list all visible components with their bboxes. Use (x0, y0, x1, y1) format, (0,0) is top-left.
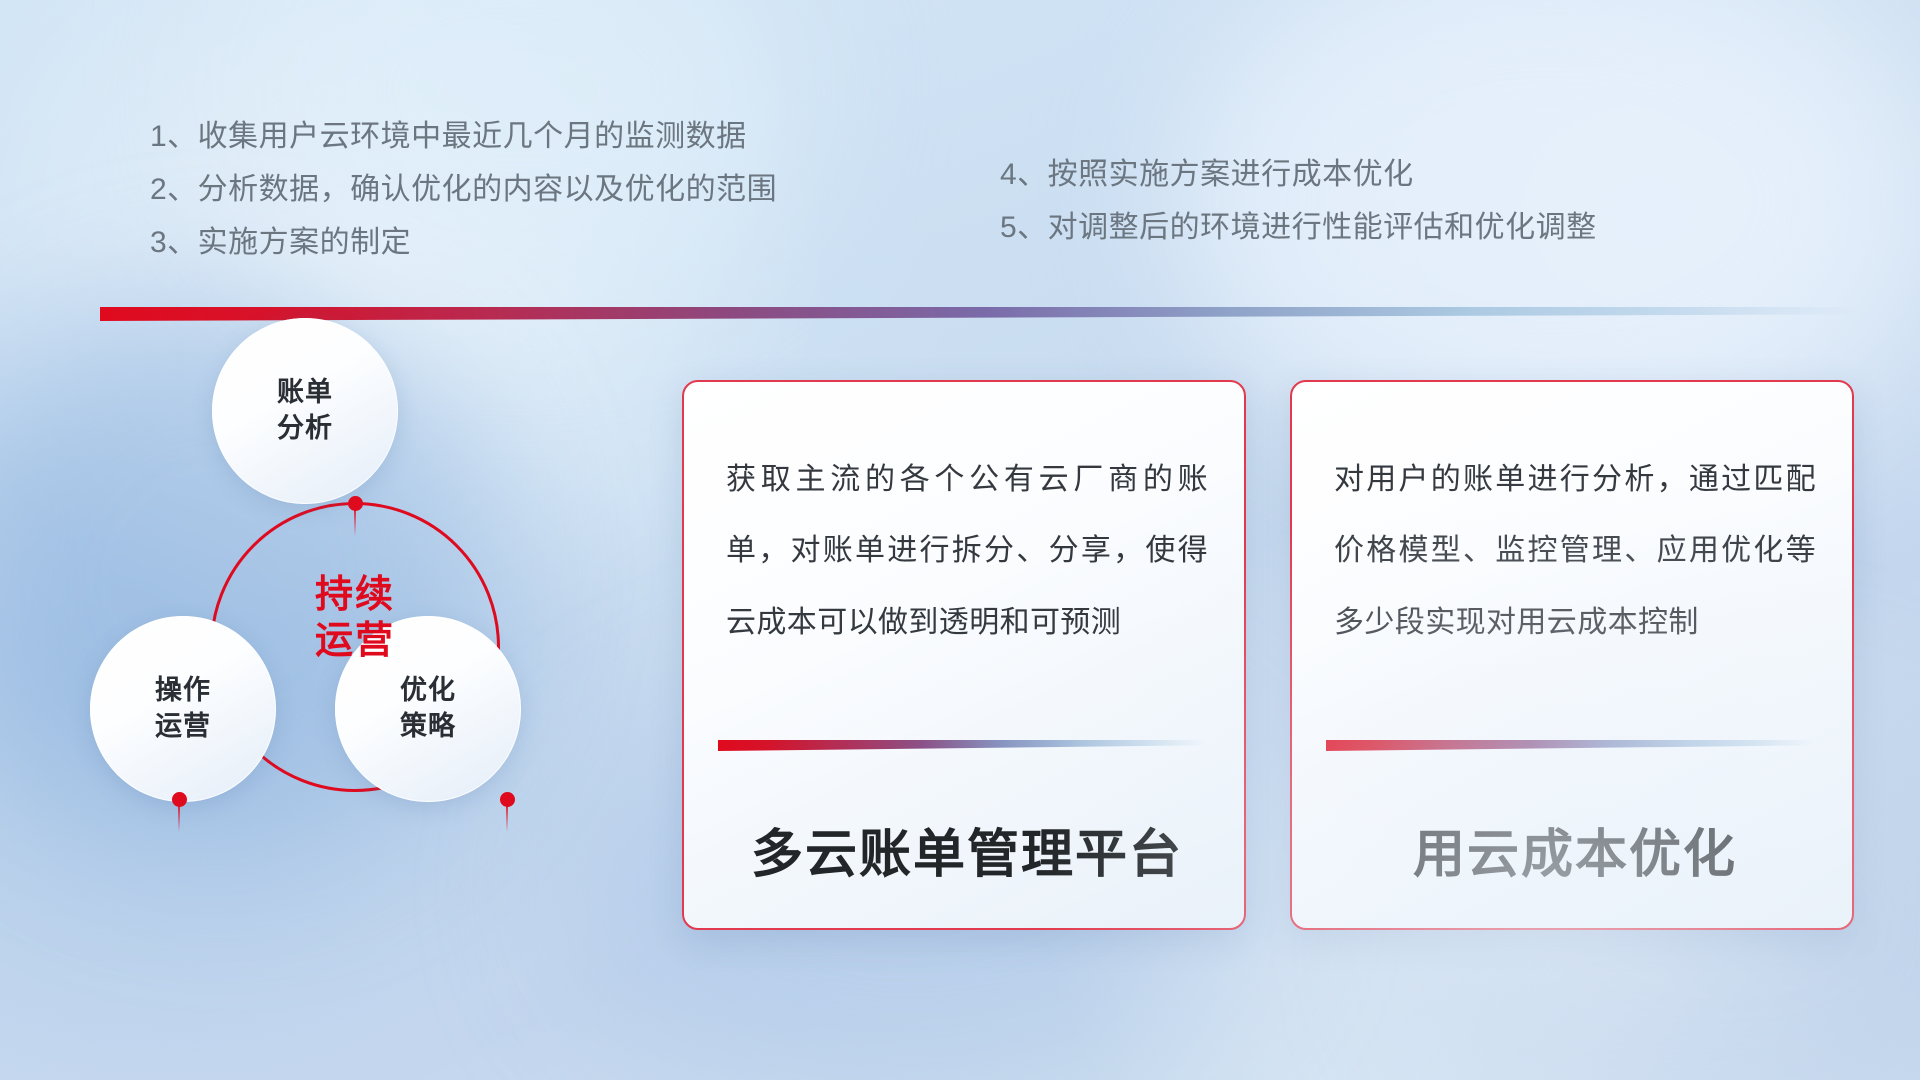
bullet-item: 5、对调整后的环境进行性能评估和优化调整 (1000, 213, 1597, 243)
feature-card-multicloud-billing[interactable]: 获取主流的各个公有云厂商的账单，对账单进行拆分、分享，使得云成本可以做到透明和可… (682, 380, 1246, 930)
card-divider (718, 740, 1206, 751)
card-title: 多云账单管理平台 (726, 812, 1208, 887)
bullet-item: 3、实施方案的制定 (150, 228, 777, 258)
center-label-line2: 运营 (210, 618, 500, 664)
card-body-text: 对用户的账单进行分析，通过匹配价格模型、监控管理、应用优化等多少段实现对用云成本… (1334, 444, 1816, 658)
node-label-line2: 分析 (277, 411, 333, 447)
center-label-line1: 持续 (210, 572, 500, 618)
cycle-diagram: 账单 分析 操作 运营 优化 策略 持续 运营 (90, 340, 650, 940)
bullet-list-right: 4、按照实施方案进行成本优化 5、对调整后的环境进行性能评估和优化调整 (1000, 160, 1597, 243)
node-label-line2: 策略 (400, 709, 456, 745)
feature-card-cost-optimization[interactable]: 对用户的账单进行分析，通过匹配价格模型、监控管理、应用优化等多少段实现对用云成本… (1290, 380, 1854, 930)
diagram-marker-tail (506, 806, 508, 832)
diagram-node-billing-analysis[interactable]: 账单 分析 (212, 318, 398, 504)
bullet-item: 2、分析数据，确认优化的内容以及优化的范围 (150, 175, 777, 205)
card-divider (1326, 740, 1814, 751)
slide-canvas: 1、收集用户云环境中最近几个月的监测数据 2、分析数据，确认优化的内容以及优化的… (0, 0, 1920, 1080)
bullet-item: 1、收集用户云环境中最近几个月的监测数据 (150, 122, 777, 152)
diagram-marker-tail (354, 510, 356, 536)
card-title: 用云成本优化 (1334, 812, 1816, 887)
bullet-list-left: 1、收集用户云环境中最近几个月的监测数据 2、分析数据，确认优化的内容以及优化的… (150, 122, 777, 258)
card-body-text: 获取主流的各个公有云厂商的账单，对账单进行拆分、分享，使得云成本可以做到透明和可… (726, 444, 1208, 658)
node-label-line1: 优化 (400, 673, 456, 709)
diagram-center-label: 持续 运营 (210, 572, 500, 665)
node-label-line2: 运营 (155, 709, 211, 745)
node-label-line1: 操作 (155, 673, 211, 709)
diagram-marker-dot (172, 792, 187, 807)
diagram-marker-dot (348, 496, 363, 511)
node-label-line1: 账单 (277, 375, 333, 411)
header-divider (100, 307, 1862, 321)
diagram-marker-tail (178, 806, 180, 832)
bullet-item: 4、按照实施方案进行成本优化 (1000, 160, 1597, 190)
diagram-marker-dot (500, 792, 515, 807)
